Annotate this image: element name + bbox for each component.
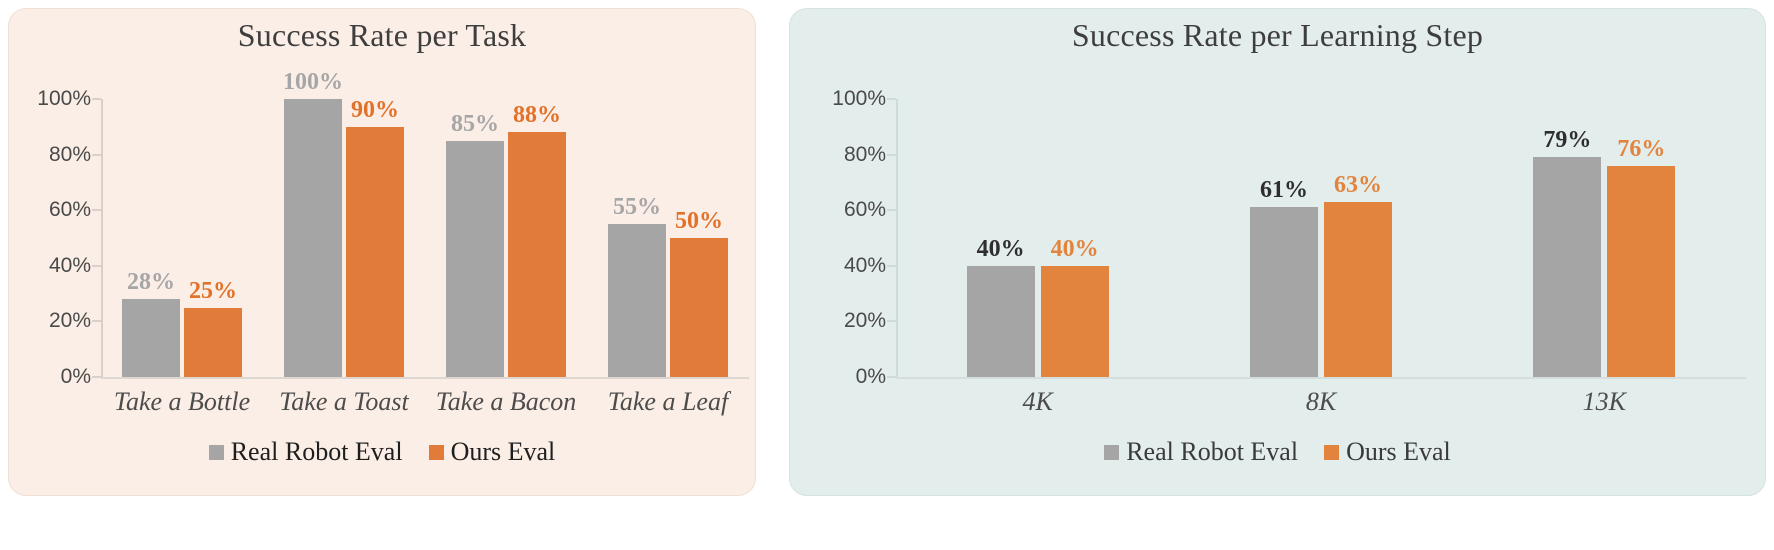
bar-group: 40%40% bbox=[896, 99, 1179, 377]
y-axis-tick-label: 100% bbox=[23, 87, 91, 111]
bar-value-label: 55% bbox=[613, 195, 661, 219]
bar-slot: 88% bbox=[508, 99, 566, 377]
bar-ours-eval[interactable]: 90% bbox=[346, 127, 404, 377]
legend-item[interactable]: Real Robot Eval bbox=[209, 437, 403, 467]
bar-slot: 79% bbox=[1533, 99, 1601, 377]
bar-groups-left: 28%25%100%90%85%88%55%50% bbox=[101, 99, 749, 377]
bar-group: 61%63% bbox=[1179, 99, 1462, 377]
y-axis-tick-label: 80% bbox=[23, 143, 91, 167]
bar-slot: 28% bbox=[122, 99, 180, 377]
bar-slot: 50% bbox=[670, 99, 728, 377]
bar-group: 100%90% bbox=[263, 99, 425, 377]
bar-value-label: 100% bbox=[283, 70, 343, 94]
bar-value-label: 90% bbox=[351, 98, 399, 122]
bar-slot: 100% bbox=[284, 99, 342, 377]
bar-slot: 85% bbox=[446, 99, 504, 377]
plot-area-left: 28%25%100%90%85%88%55%50% 0%20%40%60%80%… bbox=[101, 99, 749, 377]
y-axis-tick bbox=[92, 376, 101, 378]
bar-group: 79%76% bbox=[1463, 99, 1746, 377]
x-axis-labels-left: Take a BottleTake a ToastTake a BaconTak… bbox=[101, 387, 749, 417]
bar-slot: 61% bbox=[1250, 99, 1318, 377]
x-axis-label: 13K bbox=[1463, 387, 1746, 417]
bar-ours-eval[interactable]: 50% bbox=[670, 238, 728, 377]
y-axis-tick bbox=[92, 98, 101, 100]
bar-value-label: 76% bbox=[1617, 137, 1665, 161]
legend-label: Real Robot Eval bbox=[231, 437, 403, 467]
legend-label: Real Robot Eval bbox=[1126, 437, 1298, 467]
bar-value-label: 85% bbox=[451, 112, 499, 136]
y-axis-tick bbox=[92, 320, 101, 322]
y-axis-tick-label: 20% bbox=[814, 309, 886, 333]
y-axis-tick bbox=[887, 265, 896, 267]
chart-title-right: Success Rate per Learning Step bbox=[790, 17, 1765, 54]
y-axis-tick-label: 100% bbox=[814, 87, 886, 111]
y-axis-tick bbox=[92, 209, 101, 211]
bar-ours-eval[interactable]: 40% bbox=[1041, 266, 1109, 377]
x-axis-labels-right: 4K8K13K bbox=[896, 387, 1746, 417]
legend-label: Ours Eval bbox=[1346, 437, 1451, 467]
y-axis-tick bbox=[887, 320, 896, 322]
panel-success-rate-per-task: Success Rate per Task 28%25%100%90%85%88… bbox=[8, 8, 756, 496]
y-axis-tick-label: 60% bbox=[814, 198, 886, 222]
plot-area-right: 40%40%61%63%79%76% 0%20%40%60%80%100% bbox=[896, 99, 1746, 377]
y-axis-tick-label: 20% bbox=[23, 309, 91, 333]
y-axis-tick-label: 80% bbox=[814, 143, 886, 167]
x-axis-label: 4K bbox=[896, 387, 1179, 417]
bar-group: 55%50% bbox=[587, 99, 749, 377]
legend-swatch-icon bbox=[429, 445, 444, 460]
bar-value-label: 28% bbox=[127, 270, 175, 294]
bar-ours-eval[interactable]: 88% bbox=[508, 132, 566, 377]
bar-slot: 55% bbox=[608, 99, 666, 377]
legend-item[interactable]: Real Robot Eval bbox=[1104, 437, 1298, 467]
legend-item[interactable]: Ours Eval bbox=[429, 437, 556, 467]
x-axis-label: 8K bbox=[1179, 387, 1462, 417]
bar-value-label: 25% bbox=[189, 279, 237, 303]
bar-group: 85%88% bbox=[425, 99, 587, 377]
legend-swatch-icon bbox=[1104, 445, 1119, 460]
bar-ours-eval[interactable]: 63% bbox=[1324, 202, 1392, 377]
bar-real-robot-eval[interactable]: 28% bbox=[122, 299, 180, 377]
bar-slot: 63% bbox=[1324, 99, 1392, 377]
bar-group: 28%25% bbox=[101, 99, 263, 377]
x-axis-label: Take a Leaf bbox=[587, 387, 749, 417]
x-axis-label: Take a Bacon bbox=[425, 387, 587, 417]
y-axis-tick-label: 40% bbox=[814, 254, 886, 278]
x-axis-label: Take a Toast bbox=[263, 387, 425, 417]
bar-slot: 76% bbox=[1607, 99, 1675, 377]
y-axis-tick-label: 60% bbox=[23, 198, 91, 222]
bar-value-label: 50% bbox=[675, 209, 723, 233]
y-axis-tick-label: 0% bbox=[23, 365, 91, 389]
bar-slot: 40% bbox=[1041, 99, 1109, 377]
bar-real-robot-eval[interactable]: 100% bbox=[284, 99, 342, 377]
charts-board: Success Rate per Task 28%25%100%90%85%88… bbox=[0, 0, 1774, 550]
bar-ours-eval[interactable]: 76% bbox=[1607, 166, 1675, 377]
legend-item[interactable]: Ours Eval bbox=[1324, 437, 1451, 467]
y-axis-tick bbox=[92, 265, 101, 267]
bar-value-label: 40% bbox=[1051, 237, 1099, 261]
panel-success-rate-per-learning-step: Success Rate per Learning Step 40%40%61%… bbox=[789, 8, 1766, 496]
legend-left: Real Robot EvalOurs Eval bbox=[9, 437, 755, 467]
bar-value-label: 88% bbox=[513, 103, 561, 127]
x-axis-label: Take a Bottle bbox=[101, 387, 263, 417]
y-axis-tick bbox=[887, 209, 896, 211]
bar-real-robot-eval[interactable]: 55% bbox=[608, 224, 666, 377]
bar-value-label: 40% bbox=[977, 237, 1025, 261]
bar-slot: 25% bbox=[184, 99, 242, 377]
legend-label: Ours Eval bbox=[451, 437, 556, 467]
bar-real-robot-eval[interactable]: 79% bbox=[1533, 157, 1601, 377]
x-axis-baseline-right bbox=[896, 377, 1746, 379]
bar-value-label: 79% bbox=[1543, 128, 1591, 152]
x-axis-baseline-left bbox=[101, 377, 749, 379]
y-axis-tick bbox=[887, 98, 896, 100]
chart-title-left: Success Rate per Task bbox=[9, 17, 755, 54]
bar-ours-eval[interactable]: 25% bbox=[184, 308, 242, 378]
bar-value-label: 63% bbox=[1334, 173, 1382, 197]
bar-groups-right: 40%40%61%63%79%76% bbox=[896, 99, 1746, 377]
bar-real-robot-eval[interactable]: 40% bbox=[967, 266, 1035, 377]
bar-slot: 90% bbox=[346, 99, 404, 377]
y-axis-tick-label: 0% bbox=[814, 365, 886, 389]
legend-swatch-icon bbox=[1324, 445, 1339, 460]
y-axis-tick bbox=[887, 154, 896, 156]
y-axis-tick bbox=[887, 376, 896, 378]
legend-right: Real Robot EvalOurs Eval bbox=[790, 437, 1765, 467]
bar-value-label: 61% bbox=[1260, 178, 1308, 202]
bar-real-robot-eval[interactable]: 85% bbox=[446, 141, 504, 377]
legend-swatch-icon bbox=[209, 445, 224, 460]
bar-real-robot-eval[interactable]: 61% bbox=[1250, 207, 1318, 377]
bar-slot: 40% bbox=[967, 99, 1035, 377]
y-axis-tick bbox=[92, 154, 101, 156]
y-axis-tick-label: 40% bbox=[23, 254, 91, 278]
